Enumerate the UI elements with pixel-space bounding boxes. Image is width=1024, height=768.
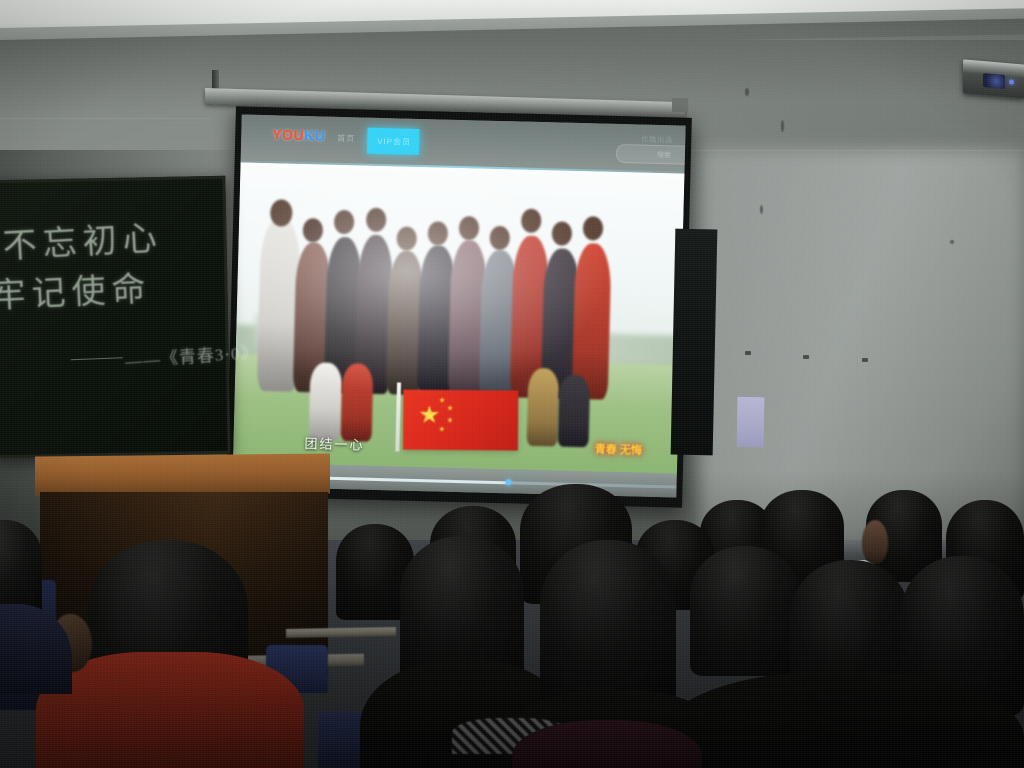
flag-small-star-icon bbox=[447, 405, 453, 411]
photo-person-front bbox=[340, 363, 373, 442]
audience-face bbox=[862, 520, 888, 564]
classroom-scene: YOUKU 首页 VIP会员 搜索 VIP 优酷出品 bbox=[0, 0, 1024, 768]
progress-handle[interactable] bbox=[506, 479, 512, 485]
desk bbox=[286, 627, 396, 638]
youku-logo[interactable]: YOUKU bbox=[272, 127, 325, 142]
wall-notice-paper bbox=[737, 397, 765, 447]
photo-person-front bbox=[558, 375, 591, 448]
wall-highlight-right bbox=[700, 150, 1024, 550]
photo-person-head bbox=[396, 226, 417, 250]
video-content[interactable]: 团结一心 青春 无悔 bbox=[233, 162, 684, 473]
player-corner-watermark: 优酷出品 bbox=[641, 135, 673, 146]
wall-hook-icon bbox=[745, 351, 751, 355]
blackboard-line-1: 不忘初心 bbox=[1, 210, 163, 268]
wall-seam bbox=[0, 118, 212, 119]
flag-small-star-icon bbox=[447, 417, 453, 423]
video-overlay-watermark: 青春 无悔 bbox=[595, 445, 642, 458]
blackboard-line-2: 牢记使命 bbox=[0, 261, 152, 317]
wall-hook-icon bbox=[803, 355, 809, 359]
china-flag bbox=[403, 390, 519, 451]
lectern-top bbox=[35, 453, 330, 496]
nav-tab-vip-label: VIP会员 bbox=[377, 136, 411, 148]
projector-led-icon bbox=[1009, 79, 1014, 84]
projector-lens-icon bbox=[983, 73, 1005, 89]
wall-dark-panel bbox=[671, 229, 718, 456]
youku-logo-ku: KU bbox=[304, 127, 326, 144]
photo-person-front bbox=[527, 368, 560, 447]
audience-head bbox=[690, 546, 800, 676]
search-placeholder: 搜索 bbox=[657, 150, 671, 160]
blackboard: 不忘初心 牢记使命 ——《青春3·0》 bbox=[0, 176, 231, 458]
nav-tab-vip[interactable]: VIP会员 bbox=[367, 128, 420, 155]
search-input[interactable]: 搜索 bbox=[616, 144, 686, 165]
audience-head bbox=[540, 540, 676, 708]
projection-screen-surface: YOUKU 首页 VIP会员 搜索 VIP 优酷出品 bbox=[232, 114, 685, 497]
photo-person-head bbox=[427, 221, 448, 245]
flag-small-star-icon bbox=[439, 397, 445, 403]
photo-person-head bbox=[458, 216, 479, 240]
youku-logo-you: YOU bbox=[272, 126, 304, 143]
flag-small-star-icon bbox=[439, 426, 445, 432]
photo-person-front bbox=[309, 362, 342, 441]
wall-mark bbox=[745, 88, 749, 96]
wall-mark bbox=[760, 205, 763, 214]
wall-seam bbox=[690, 150, 1024, 151]
wall-mark bbox=[950, 240, 954, 244]
photo-person-head bbox=[365, 208, 386, 232]
projection-screen: YOUKU 首页 VIP会员 搜索 VIP 优酷出品 bbox=[226, 106, 692, 507]
nav-home-link[interactable]: 首页 bbox=[337, 133, 355, 144]
wall-mark bbox=[781, 120, 784, 132]
flag-big-star-icon bbox=[419, 405, 439, 424]
wall-hook-icon bbox=[862, 358, 868, 362]
projector bbox=[963, 59, 1024, 98]
screen-roller-end-cap bbox=[672, 98, 688, 112]
video-subtitle: 团结一心 bbox=[304, 433, 364, 454]
